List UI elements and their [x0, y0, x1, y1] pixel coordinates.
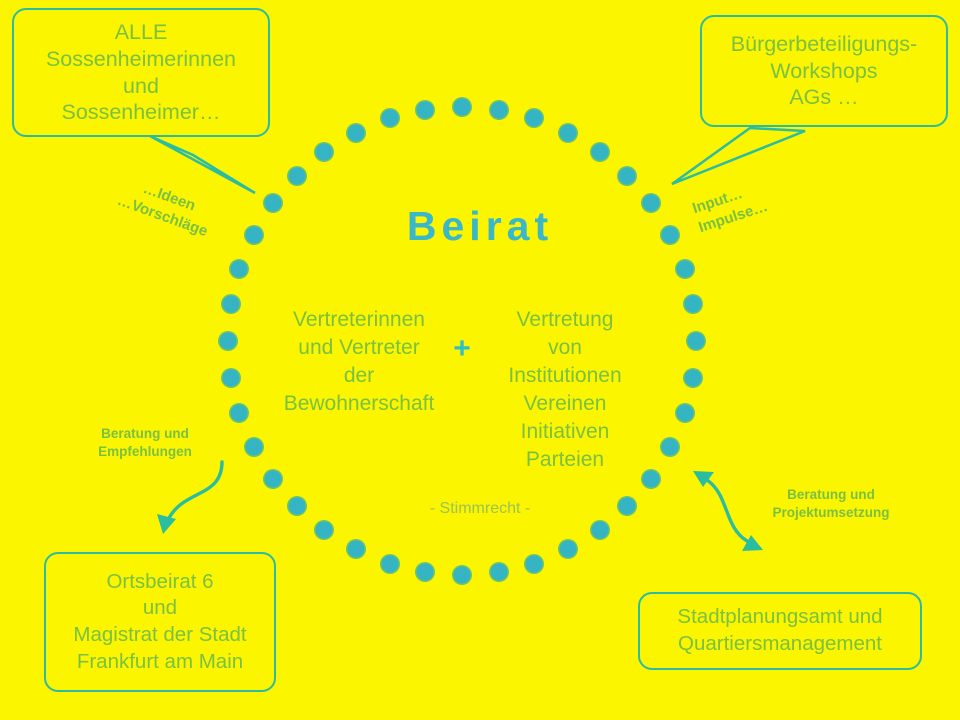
diagram-canvas: ALLE Sossenheimerinnen und Sossenheimer…… — [0, 0, 960, 720]
bubble-workshops-text: Bürgerbeteiligungs- Workshops AGs … — [731, 31, 917, 112]
ring-dot — [454, 99, 471, 116]
ring-dot — [591, 143, 608, 160]
arrowhead-down-right — [742, 535, 763, 551]
bubble-participation-workshops: Bürgerbeteiligungs- Workshops AGs … — [700, 15, 948, 127]
box-stadtplanung-text: Stadtplanungsamt und Quartiersmanagement — [677, 604, 882, 657]
ring-dot — [231, 260, 248, 277]
ring-dot — [288, 167, 305, 184]
ring-dot — [560, 124, 577, 141]
ring-dot — [222, 369, 239, 386]
box-ortsbeirat-magistrat: Ortsbeirat 6 und Magistrat der Stadt Fra… — [44, 552, 276, 692]
bubble-all-residents: ALLE Sossenheimerinnen und Sossenheimer… — [12, 8, 270, 137]
ring-dot — [316, 522, 333, 539]
ring-dot — [688, 333, 705, 350]
ring-dot — [454, 567, 471, 584]
ring-dot — [381, 555, 398, 572]
ring-dot — [347, 541, 364, 558]
ring-dot — [685, 296, 702, 313]
arrowhead-up-left — [693, 471, 714, 487]
page-title-beirat: Beirat — [0, 203, 960, 250]
ring-dot — [676, 260, 693, 277]
ring-dot — [316, 143, 333, 160]
ring-dot — [490, 564, 507, 581]
council-composition: Vertreterinnen und Vertreter der Bewohne… — [252, 306, 672, 474]
ring-dot — [222, 296, 239, 313]
ring-dot — [685, 369, 702, 386]
ring-dot — [676, 405, 693, 422]
ring-dot — [231, 405, 248, 422]
ring-dot — [347, 124, 364, 141]
annotation-beratung-projektumsetzung: Beratung und Projektumsetzung — [748, 486, 914, 522]
ring-dot — [417, 101, 434, 118]
ring-dot — [490, 101, 507, 118]
ring-dot — [526, 555, 543, 572]
bubble-tail-workshops — [672, 128, 805, 184]
council-column-residents: Vertreterinnen und Vertreter der Bewohne… — [273, 306, 445, 418]
ring-dot — [220, 333, 237, 350]
ring-dot — [591, 522, 608, 539]
ring-dot — [619, 167, 636, 184]
council-column-institutions: Vertretung von Institutionen Vereinen In… — [479, 306, 651, 474]
box-stadtplanungsamt-quartiersmanagement: Stadtplanungsamt und Quartiersmanagement — [638, 592, 922, 670]
box-ortsbeirat-text: Ortsbeirat 6 und Magistrat der Stadt Fra… — [73, 569, 246, 676]
annotation-beratung-empfehlungen: Beratung und Empfehlungen — [78, 425, 212, 461]
plus-icon: + — [445, 334, 479, 364]
bubble-tail-residents — [150, 136, 255, 193]
ring-dot — [560, 541, 577, 558]
ring-dot — [381, 110, 398, 127]
ring-dot — [417, 564, 434, 581]
bubble-residents-text: ALLE Sossenheimerinnen und Sossenheimer… — [46, 19, 236, 127]
ring-dot — [526, 110, 543, 127]
